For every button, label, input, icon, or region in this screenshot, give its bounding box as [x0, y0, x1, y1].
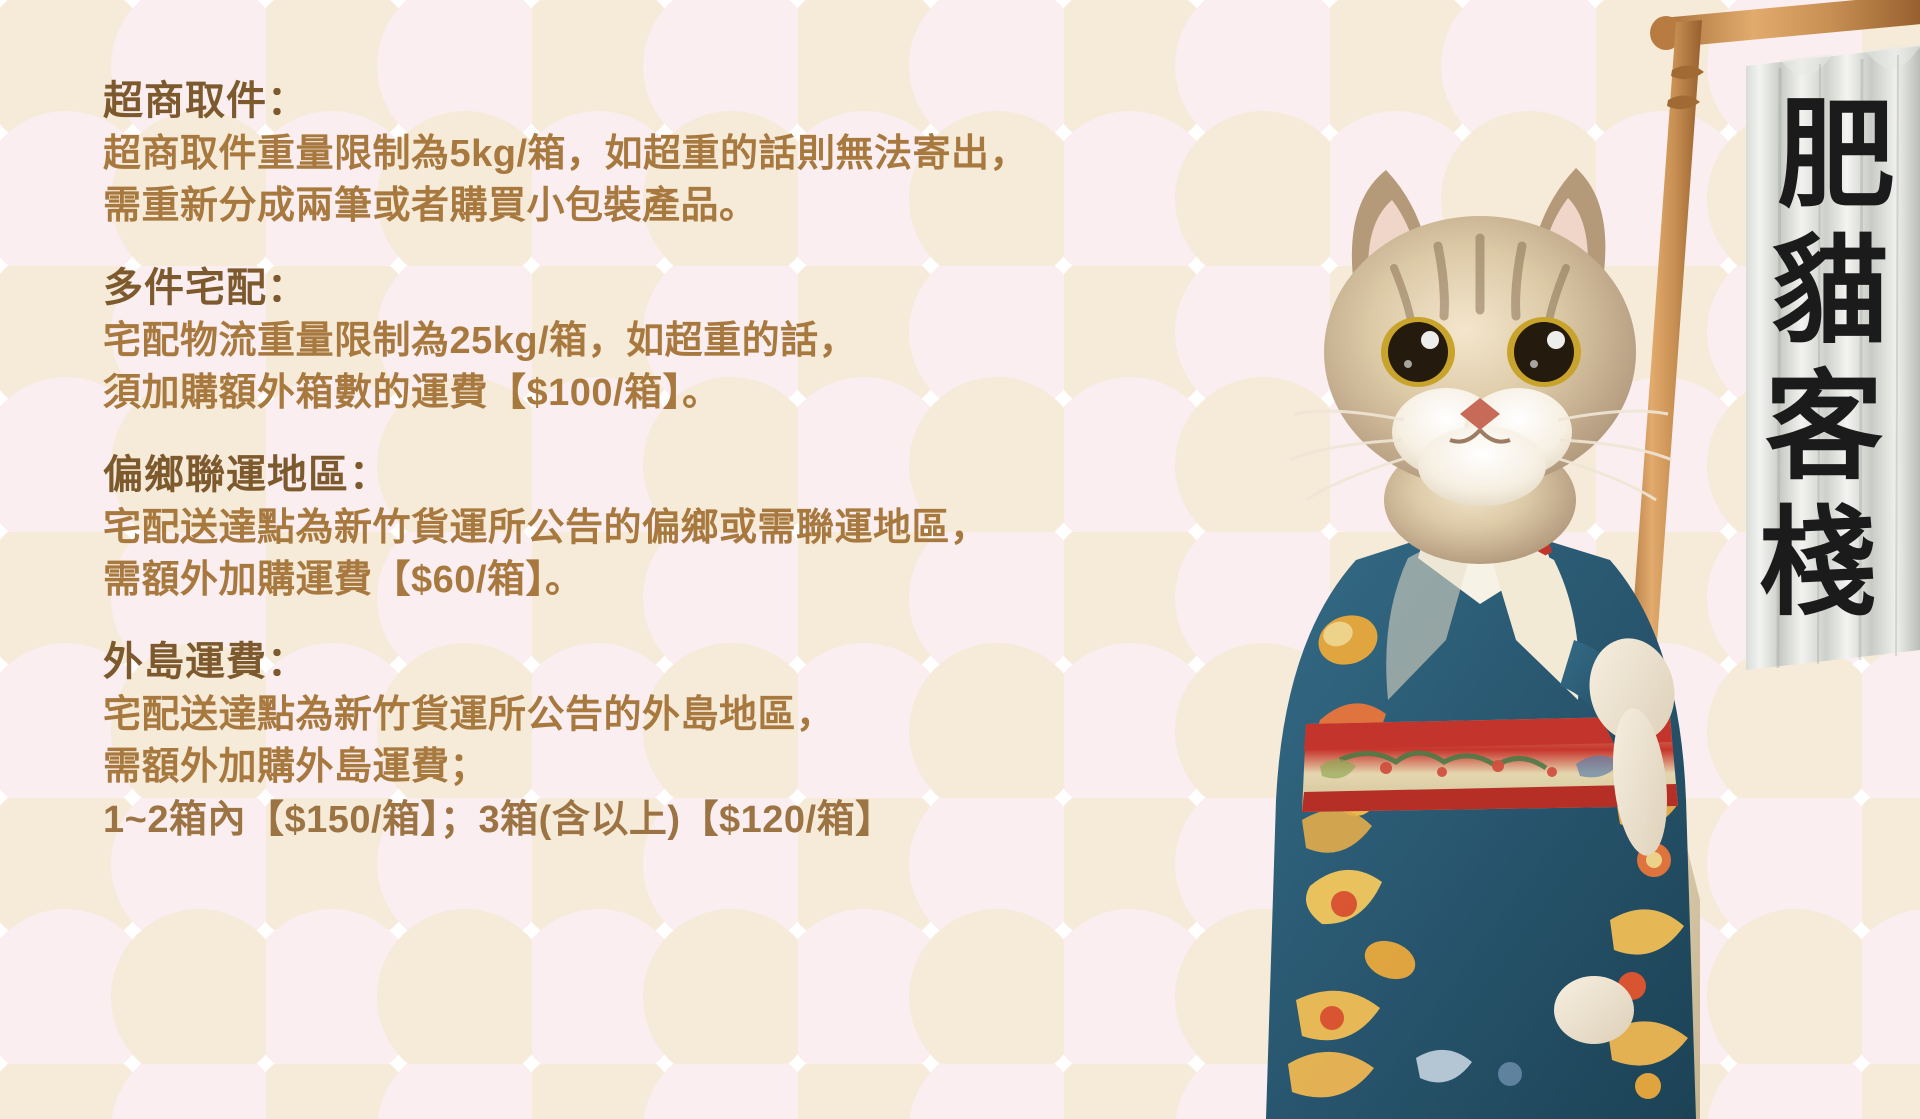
section-body-line: 宅配送達點為新竹貨運所公告的偏鄉或需聯運地區，: [103, 502, 1113, 554]
cat-mouth-left: [1450, 430, 1480, 442]
cat-eye-left: [1381, 317, 1455, 387]
section-body-line: 宅配物流重量限制為25kg/箱，如超重的話，: [103, 315, 1113, 367]
collar-trim: [1496, 508, 1542, 562]
section-heading: 多件宅配：: [103, 261, 1113, 315]
section-body-line: 需額外加購外島運費；: [103, 741, 1113, 793]
cat-head: [1324, 216, 1636, 488]
cat-ear-right: [1528, 168, 1605, 298]
section-body-line: 1~2箱內【$150/箱】；3箱(含以上)【$120/箱】: [103, 794, 1113, 846]
banner-char: 肥: [1777, 85, 1895, 224]
hakama-pleats: [1376, 706, 1584, 1119]
cat-paw-lower: [1606, 706, 1673, 859]
obi-pattern: [1320, 753, 1620, 778]
shipping-policy-text-column: 超商取件： 超商取件重量限制為5kg/箱，如超重的話則無法寄出， 需重新分成兩筆…: [103, 74, 1113, 846]
section-heading: 偏鄉聯運地區：: [103, 448, 1113, 502]
cat-nose: [1460, 398, 1500, 430]
banner-hem: [1740, 34, 1920, 75]
banner-folds: [1778, 55, 1898, 668]
crossbar-end-cap: [1650, 16, 1682, 50]
banner-crossbar: [1662, 0, 1920, 48]
policy-section-remote-area-transfer: 偏鄉聯運地區： 宅配送達點為新竹貨運所公告的偏鄉或需聯運地區， 需額外加購運費【…: [103, 448, 1113, 607]
cat-neck: [1384, 436, 1576, 564]
pole-binding: [1671, 65, 1704, 79]
cat-muzzle-right: [1464, 388, 1572, 476]
cat-lapel-left: [1386, 520, 1480, 700]
banner-cloth: [1746, 46, 1920, 670]
cat-mouth-right: [1480, 430, 1510, 442]
banner-pole: [1624, 20, 1702, 740]
cat-hakama: [1300, 700, 1700, 1119]
cat-chin: [1418, 426, 1546, 506]
cat-ear-right-inner: [1540, 198, 1588, 288]
cat-whiskers: [1290, 411, 1672, 500]
cat-obi: [1302, 716, 1678, 812]
kimono-floral-pattern: [1288, 608, 1688, 1099]
cat-paw-front: [1554, 976, 1634, 1044]
cat-sleeve: [1560, 640, 1642, 760]
section-body-line: 超商取件重量限制為5kg/箱，如超重的話則無法寄出，: [103, 128, 1113, 180]
banner-text: 肥 貓 客 棧: [1759, 85, 1895, 632]
obi-lower-band: [1302, 784, 1678, 812]
cat-forehead-stripes: [1394, 238, 1566, 326]
policy-section-convenience-store-pickup: 超商取件： 超商取件重量限制為5kg/箱，如超重的話則無法寄出， 需重新分成兩筆…: [103, 74, 1113, 233]
banner-char: 棧: [1759, 493, 1877, 632]
section-body-line: 需額外加購運費【$60/箱】。: [103, 554, 1113, 606]
banner-char: 貓: [1771, 221, 1889, 360]
obi-upper-band: [1304, 716, 1672, 750]
kimono-cat-illustration: 肥 貓 客 棧: [1180, 0, 1920, 1119]
cat-inner-collar-red: [1486, 500, 1552, 574]
cat-eye-right: [1507, 317, 1581, 387]
cat-ear-left: [1352, 170, 1432, 300]
cat-ear-left-inner: [1368, 200, 1420, 290]
section-body-line: 宅配送達點為新竹貨運所公告的外島地區，: [103, 689, 1113, 741]
cat-paw-upper: [1580, 630, 1684, 749]
pole-binding: [1667, 95, 1700, 109]
banner-char: 客: [1765, 357, 1883, 496]
section-heading: 超商取件：: [103, 74, 1113, 128]
policy-section-outlying-island-shipping: 外島運費： 宅配送達點為新竹貨運所公告的外島地區， 需額外加購外島運費； 1~2…: [103, 635, 1113, 846]
section-body-line: 須加購額外箱數的運費【$100/箱】。: [103, 367, 1113, 419]
policy-section-multi-parcel-home-delivery: 多件宅配： 宅配物流重量限制為25kg/箱，如超重的話， 須加購額外箱數的運費【…: [103, 261, 1113, 420]
banner-pole-group: [1622, 0, 1920, 754]
section-body-line: 需重新分成兩筆或者購買小包裝產品。: [103, 180, 1113, 232]
cat-figure: [1266, 168, 1700, 1119]
cat-muzzle-left: [1392, 388, 1500, 476]
section-heading: 外島運費：: [103, 635, 1113, 689]
banner-cloth-group: 肥 貓 客 棧: [1740, 34, 1920, 670]
cat-lapel-right: [1480, 520, 1579, 700]
cat-under-collar: [1418, 502, 1550, 604]
cat-kimono-outer: [1266, 520, 1696, 1119]
pole-tip: [1622, 730, 1652, 754]
